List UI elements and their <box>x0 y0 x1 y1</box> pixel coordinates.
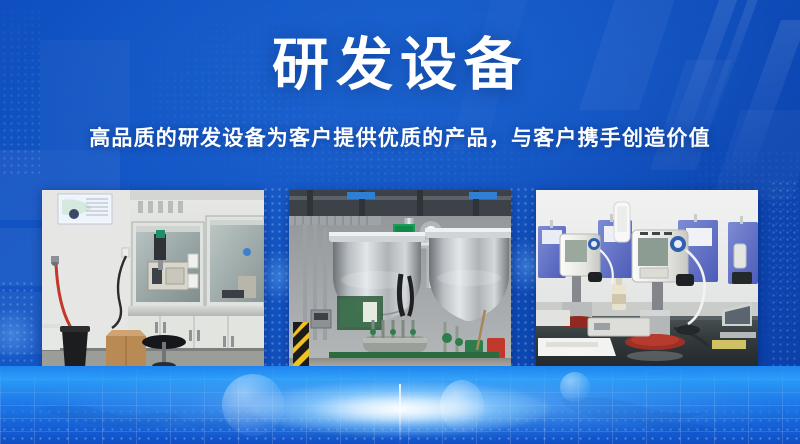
photo-laboratory-fume-hood-room[interactable] <box>42 190 264 370</box>
laboratory-fume-hood-illustration <box>42 190 264 370</box>
photo-viscometer-testing-lab[interactable] <box>536 190 758 370</box>
horizon-glow-ray <box>399 384 401 444</box>
bottom-horizon-glow <box>0 366 800 444</box>
photo-gallery <box>42 190 758 370</box>
banner-subtitle: 高品质的研发设备为客户提供优质的产品，与客户携手创造价值 <box>0 122 800 152</box>
testing-instruments-illustration <box>536 190 758 370</box>
photo-stainless-steel-reactor-vessels[interactable] <box>289 190 511 370</box>
light-bubble <box>440 380 484 432</box>
product-banner: 研发设备 高品质的研发设备为客户提供优质的产品，与客户携手创造价值 <box>0 0 800 444</box>
light-bubble <box>222 374 284 436</box>
dot-glow <box>0 306 40 362</box>
halftone-dot-pattern <box>770 180 800 375</box>
light-bubble <box>560 372 590 402</box>
banner-title: 研发设备 <box>0 36 800 96</box>
reactor-vessel-illustration <box>289 190 511 370</box>
